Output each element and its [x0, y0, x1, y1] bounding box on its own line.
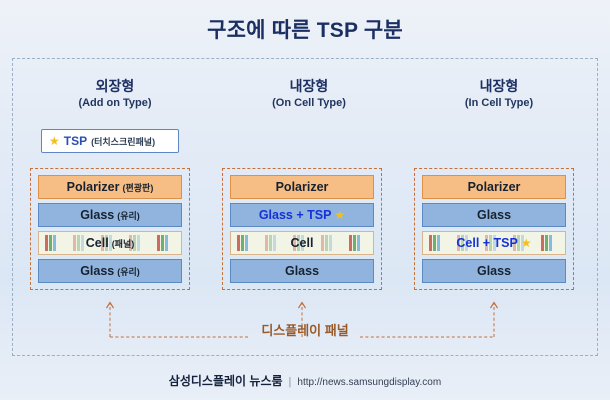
footer: 삼성디스플레이 뉴스룸 | http://news.samsungdisplay…: [0, 372, 610, 389]
star-icon: ★: [334, 209, 345, 221]
layer-glass: Glass(유리): [38, 259, 182, 283]
layer-label: Cell: [291, 236, 314, 250]
legend-label: TSP: [64, 134, 87, 148]
layer-label-group: Polarizer(편광판): [67, 180, 154, 194]
layer-label-group: Polarizer: [276, 180, 329, 194]
layer-glass: Glass: [230, 259, 374, 283]
layer-glass: Glass(유리): [38, 203, 182, 227]
layer-label-group: Glass(유리): [80, 264, 140, 278]
layer-label: Glass: [285, 264, 319, 278]
layer-polarizer: Polarizer: [230, 175, 374, 199]
stack-add-on-type: Polarizer(편광판)Glass(유리)Cell(패널)Glass(유리): [30, 168, 190, 290]
layer-polarizer: Polarizer: [422, 175, 566, 199]
layer-label-group: Glass(유리): [80, 208, 140, 222]
footer-brand: 삼성디스플레이 뉴스룸: [169, 372, 283, 389]
layer-sublabel: (패널): [112, 237, 135, 250]
layer-label: Glass: [80, 264, 114, 278]
display-panel-label: 디스플레이 패널: [0, 320, 610, 339]
footer-separator: |: [289, 376, 292, 388]
layer-label-group: Cell: [291, 236, 314, 250]
column-header-on-cell-type: 내장형 (On Cell Type): [214, 78, 404, 110]
layer-polarizer: Polarizer(편광판): [38, 175, 182, 199]
column-header-add-on-type: 외장형 (Add on Type): [20, 78, 210, 110]
layer-label-group: Glass: [477, 264, 511, 278]
layer-label-group: Glass: [477, 208, 511, 222]
layer-label: Glass: [80, 208, 114, 222]
column-header-in-cell-type: 내장형 (In Cell Type): [404, 78, 594, 110]
column-header-kr: 내장형: [404, 78, 594, 96]
legend-sublabel: (터치스크린패널): [91, 135, 155, 148]
infographic-canvas: 구조에 따른 TSP 구분 외장형 (Add on Type) 내장형 (On …: [0, 0, 610, 400]
layer-glass: Glass + TSP★: [230, 203, 374, 227]
column-header-en: (On Cell Type): [214, 96, 404, 111]
column-header-en: (In Cell Type): [404, 96, 594, 111]
layer-label-group: Glass: [285, 264, 319, 278]
layer-label-group: Cell + TSP★: [456, 236, 531, 250]
stack-on-cell-type: PolarizerGlass + TSP★CellGlass: [222, 168, 382, 290]
layer-sublabel: (편광판): [122, 181, 153, 194]
layer-label: Glass: [477, 264, 511, 278]
page-title: 구조에 따른 TSP 구분: [0, 14, 610, 44]
layer-label: Cell: [86, 236, 109, 250]
layer-cell: Cell + TSP★: [422, 231, 566, 255]
layer-cell: Cell(패널): [38, 231, 182, 255]
tsp-legend-box: ★ TSP (터치스크린패널): [41, 129, 179, 153]
layer-label: Glass + TSP: [259, 208, 332, 222]
layer-cell: Cell: [230, 231, 374, 255]
layer-label: Polarizer: [276, 180, 329, 194]
layer-label-group: Cell(패널): [86, 236, 135, 250]
star-icon: ★: [49, 135, 60, 147]
layer-glass: Glass: [422, 203, 566, 227]
column-header-kr: 외장형: [20, 78, 210, 96]
column-header-en: (Add on Type): [20, 96, 210, 111]
footer-url[interactable]: http://news.samsungdisplay.com: [297, 377, 441, 388]
layer-sublabel: (유리): [117, 209, 140, 222]
layer-sublabel: (유리): [117, 265, 140, 278]
layer-label: Glass: [477, 208, 511, 222]
stack-in-cell-type: PolarizerGlassCell + TSP★Glass: [414, 168, 574, 290]
column-header-kr: 내장형: [214, 78, 404, 96]
star-icon: ★: [521, 237, 532, 249]
layer-label-group: Polarizer: [468, 180, 521, 194]
layer-glass: Glass: [422, 259, 566, 283]
layer-label-group: Glass + TSP★: [259, 208, 345, 222]
layer-label: Polarizer: [468, 180, 521, 194]
layer-label: Polarizer: [67, 180, 120, 194]
layer-label: Cell + TSP: [456, 236, 517, 250]
